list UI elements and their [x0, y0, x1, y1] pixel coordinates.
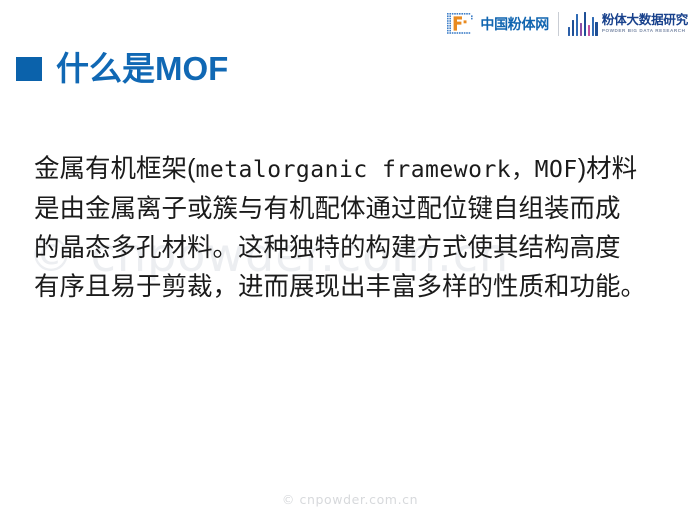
footer-watermark: © cnpowder.com.cn [0, 492, 700, 507]
body-line: 是由金属离子或簇与有机配体通过配位键自组装而成 [34, 190, 674, 229]
body-line-mono: metalorganic framework，MOF [196, 157, 578, 183]
body-paragraph: 金属有机框架(metalorganic framework，MOF)材料 是由金… [34, 150, 674, 307]
brand-divider [558, 12, 559, 36]
brand-group: 中国粉体网 粉体大数据研究 POWDER BIG DATA RESEARCH [446, 11, 688, 37]
body-line-cjk-lead: 是由金属离子或簇与有机配体通过配位键自组装而成 [34, 195, 621, 223]
body-line-cjk-lead: 的晶态多孔材料。这种独特的构建方式使其结构高度 [34, 234, 621, 262]
brand-cnpowder: 中国粉体网 [446, 11, 549, 37]
body-line: 有序且易于剪裁，进而展现出丰富多样的性质和功能。 [34, 268, 674, 307]
page-title: 什么是MOF [16, 52, 228, 85]
brand-powder-big-data: 粉体大数据研究 POWDER BIG DATA RESEARCH [568, 12, 688, 36]
body-line-cjk-lead: 金属有机框架( [34, 155, 196, 183]
body-line: 金属有机框架(metalorganic framework，MOF)材料 [34, 150, 674, 190]
body-line: 的晶态多孔材料。这种独特的构建方式使其结构高度 [34, 229, 674, 268]
cnpowder-pixel-p-logo-icon [446, 11, 476, 37]
slide-root: 中国粉体网 粉体大数据研究 POWDER BIG DATA RESEARCH [0, 0, 700, 525]
bar-equalizer-icon [568, 12, 598, 36]
body-line-cjk-lead: 有序且易于剪裁，进而展现出丰富多样的性质和功能。 [34, 273, 646, 301]
square-bullet-icon [16, 57, 42, 81]
brand-cnpowder-label: 中国粉体网 [480, 17, 549, 31]
brand-powder-big-data-label: 粉体大数据研究 [602, 14, 688, 27]
brand-powder-big-data-textblock: 粉体大数据研究 POWDER BIG DATA RESEARCH [602, 14, 688, 33]
page-title-label: 什么是MOF [56, 52, 228, 85]
body-line-cjk-tail: )材料 [578, 155, 638, 183]
header-logo-bar: 中国粉体网 粉体大数据研究 POWDER BIG DATA RESEARCH [0, 0, 700, 48]
brand-powder-big-data-subtitle: POWDER BIG DATA RESEARCH [602, 29, 688, 34]
